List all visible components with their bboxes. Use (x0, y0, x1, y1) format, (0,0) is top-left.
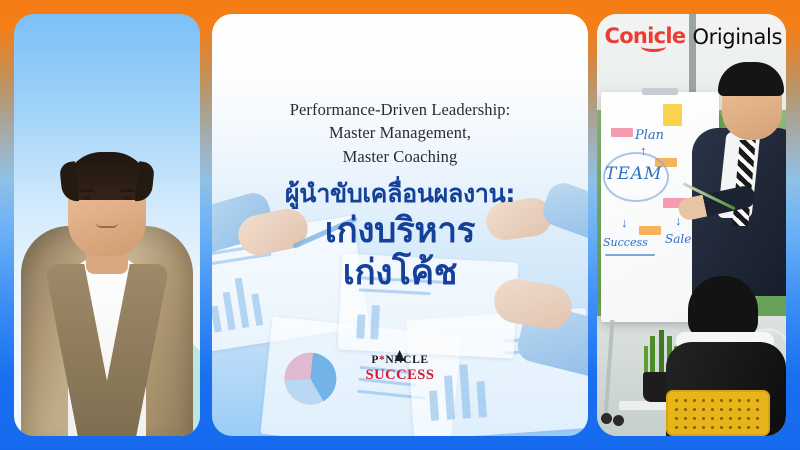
thai-title-line-3: เก่งโค้ช (212, 254, 588, 293)
speaker-eyebrow-left (79, 189, 94, 192)
speaker-figure (21, 226, 193, 436)
sticky-note (663, 104, 682, 126)
pie-chart (282, 350, 339, 407)
chart-bar (476, 381, 486, 417)
pinnacle-tail: CLE (403, 354, 428, 366)
pinnacle-success-logo: P*NNCLE SUCCESS (366, 351, 435, 383)
speaker-eye-right (123, 196, 132, 200)
presenter-hair (718, 62, 784, 96)
speaker-mouth (96, 223, 118, 228)
whiteboard-word-success: Success (603, 236, 648, 249)
english-title-line-2: Master Management, (212, 121, 588, 144)
speaker-eye-left (82, 196, 91, 200)
chart-bar (251, 293, 263, 326)
english-title: Performance-Driven Leadership: Master Ma… (212, 98, 588, 168)
title-card: Performance-Driven Leadership: Master Ma… (212, 14, 588, 436)
chair-perforation-pattern (672, 396, 764, 430)
thai-title: ผู้นำขับเคลื่อนผลงาน: เก่งบริหาร เก่งโค้… (212, 180, 588, 293)
conicle-originals-logo: Conicle Originals (604, 26, 782, 48)
seated-attendee (670, 276, 786, 436)
originals-wordmark: Originals (692, 27, 782, 48)
speaker-portrait-card (14, 14, 200, 436)
pinnacle-wordmark: P*NNCLE (371, 355, 428, 367)
whiteboard-word-plan: Plan (635, 128, 664, 143)
standing-presenter (684, 66, 786, 294)
chart-bar (444, 375, 455, 419)
arrow-down-icon: ↓ (621, 216, 628, 229)
whiteboard-wheel (613, 415, 624, 426)
english-title-line-3: Master Coaching (212, 145, 588, 168)
sticky-note (639, 226, 661, 235)
speaker-eyebrow-right (120, 189, 135, 192)
whiteboard-underline (605, 254, 655, 256)
chart-bar (459, 364, 471, 418)
meeting-photo-card: Plan ↑ TEAM ↓ Success ↓ Sale (597, 14, 786, 436)
whiteboard-wheel (601, 413, 612, 424)
yellow-chair (666, 390, 770, 436)
thai-title-line-2: เก่งบริหาร (212, 212, 588, 251)
speaker-hair (64, 152, 150, 200)
conicle-mark: Conicle (604, 26, 685, 48)
attendee-head (688, 276, 758, 338)
chart-bar (223, 292, 236, 331)
whiteboard-clip (642, 88, 678, 95)
chart-bar (212, 306, 222, 333)
success-wordmark: SUCCESS (366, 368, 435, 383)
chart-bar (429, 390, 439, 420)
whiteboard-word-team: TEAM (605, 164, 662, 184)
chart-bar (370, 305, 380, 339)
chart-bar (356, 314, 365, 338)
english-title-line-1: Performance-Driven Leadership: (212, 98, 588, 121)
arrow-up-icon: ↑ (640, 144, 647, 157)
thai-title-line-1: ผู้นำขับเคลื่อนผลงาน: (212, 180, 588, 208)
sticky-note (611, 128, 633, 137)
mountain-peak-icon (395, 350, 405, 361)
